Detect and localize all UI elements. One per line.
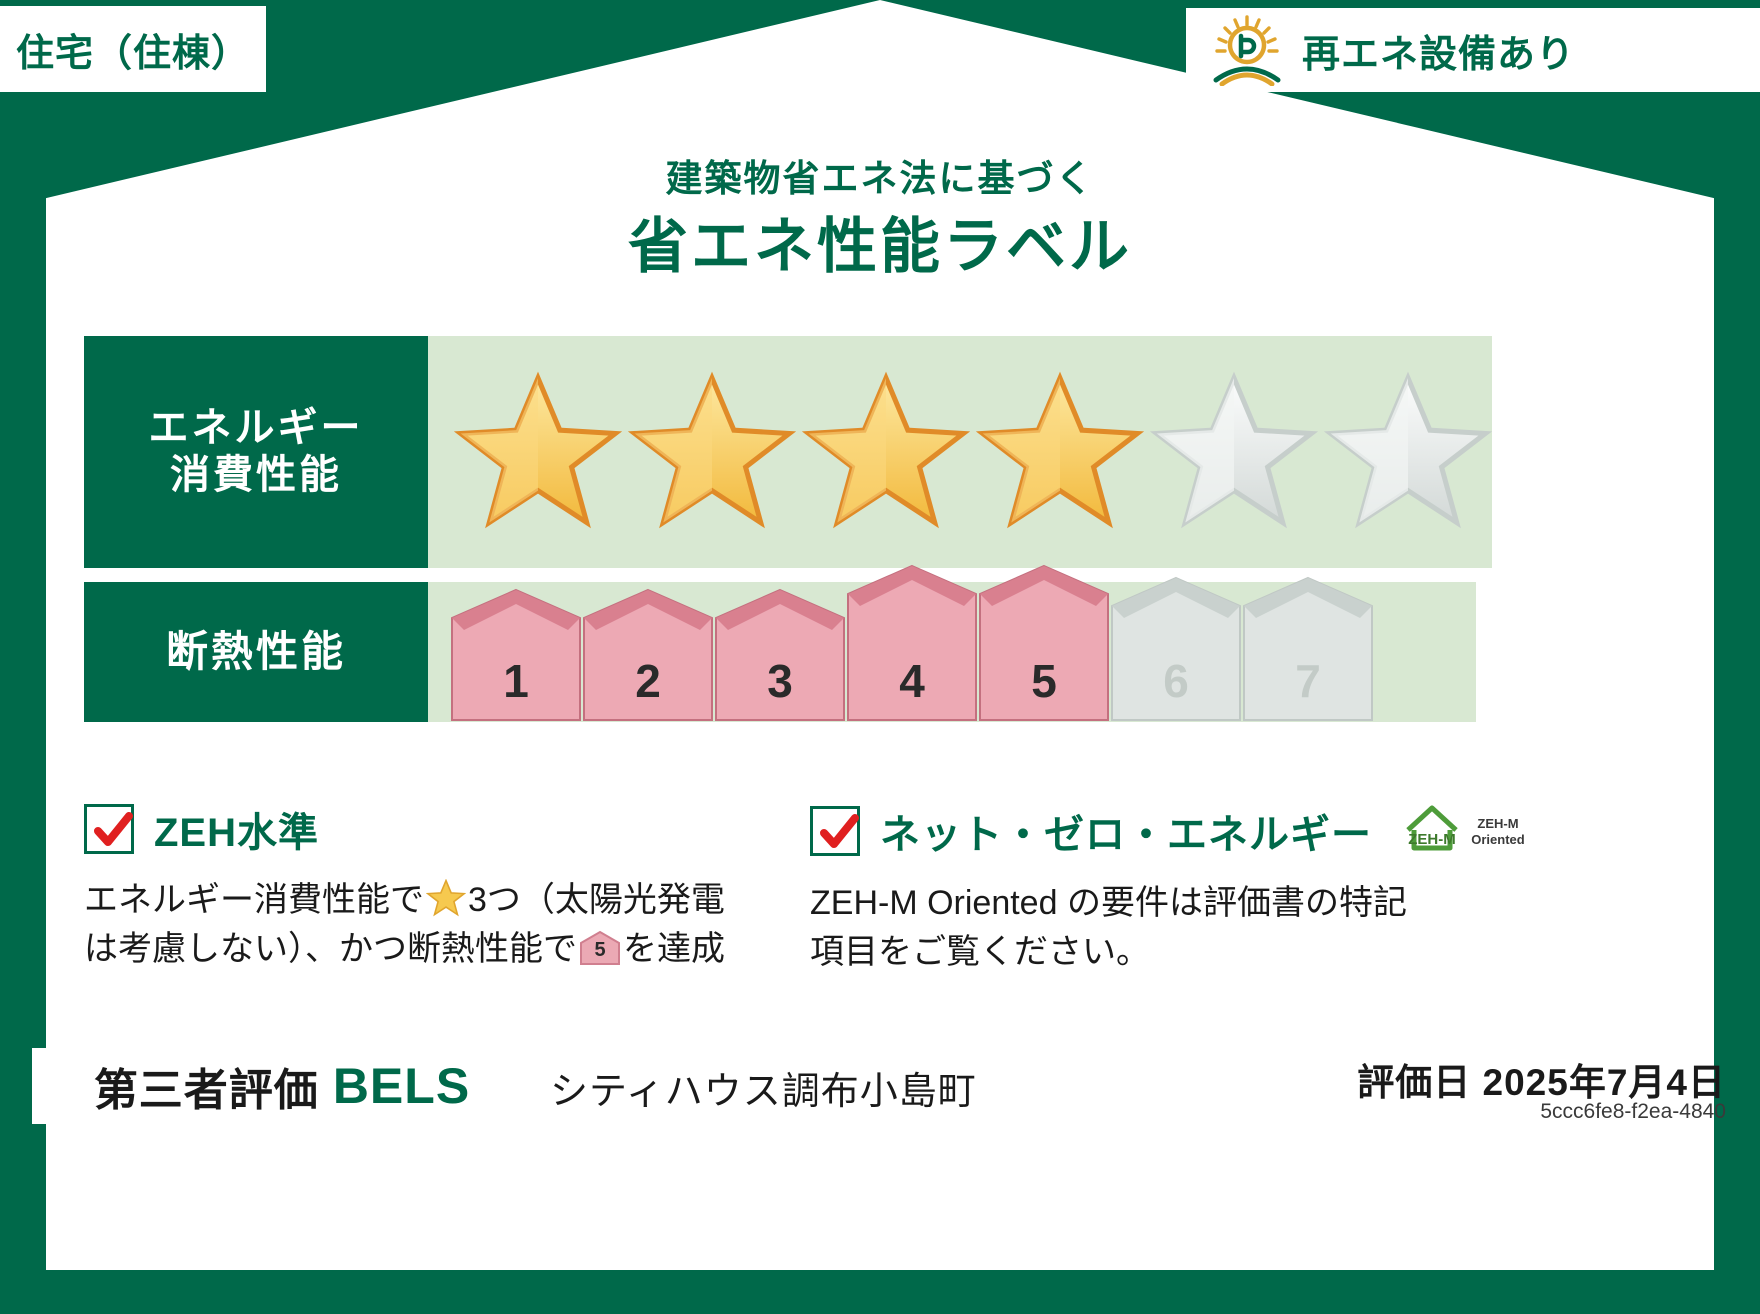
net-zero-energy-checkbox[interactable]	[810, 806, 860, 856]
energy-star-rating	[428, 336, 1492, 568]
zeh-standard-description: エネルギー消費性能で3つ（太陽光発電 は考慮しない）、かつ断熱性能で5を達成	[84, 876, 764, 975]
zeh-desc-part4: を達成	[623, 930, 725, 968]
insulation-grade-badge: 6	[1108, 576, 1244, 722]
insulation-performance-label: 断熱性能	[84, 582, 428, 722]
check-icon	[91, 809, 135, 853]
label-title: 省エネ性能ラベル	[0, 198, 1760, 285]
star-icon-empty	[1324, 369, 1492, 535]
check-icon	[817, 811, 861, 855]
insulation-grade-scale: 1234567	[428, 582, 1476, 722]
insulation-label-text: 断熱性能	[166, 627, 346, 677]
insulation-grade-number: 1	[448, 654, 584, 708]
insulation-grade-number: 2	[580, 654, 716, 708]
zehm-house-logo-icon: ZEH-M ZEH-M Oriented	[1402, 800, 1542, 861]
zeh-desc-part3: は考慮しない）、かつ断熱性能で	[84, 930, 577, 968]
insulation-grade-number: 5	[976, 654, 1112, 708]
solar-plug-icon	[1208, 14, 1286, 86]
insulation-grade-badge: 3	[712, 588, 848, 722]
star-icon	[802, 369, 970, 535]
zeh-standard-title: ZEH水準	[154, 800, 319, 858]
insulation-grade-number: 4	[844, 654, 980, 708]
dwelling-type-label: 住宅（住棟）	[16, 22, 250, 77]
evaluation-id: 5ccc6fe8-f2ea-4840	[1540, 1100, 1726, 1124]
svg-text:ZEH-M: ZEH-M	[1408, 831, 1456, 848]
energy-performance-label: エネルギー 消費性能	[84, 336, 428, 568]
net-zero-energy-description: ZEH-M Oriented の要件は評価書の特記 項目をご覧ください。	[810, 879, 1490, 978]
zeh-standard-block: ZEH水準 エネルギー消費性能で3つ（太陽光発電 は考慮しない）、かつ断熱性能で…	[84, 800, 764, 975]
dwelling-type-tag: 住宅（住棟）	[0, 6, 266, 92]
insulation-grade-number: 7	[1240, 654, 1376, 708]
bels-en-label: BELS	[333, 1057, 470, 1115]
insulation-grade-number: 6	[1108, 654, 1244, 708]
net-zero-energy-title: ネット・ゼロ・エネルギー	[880, 802, 1372, 860]
zeh-desc-part1: エネルギー消費性能で	[84, 881, 424, 919]
star-icon	[426, 879, 466, 917]
house-badge-icon: 5	[579, 930, 621, 966]
insulation-grade-badge: 1	[448, 588, 584, 722]
insulation-grade-badge: 7	[1240, 576, 1376, 722]
renewable-energy-tag: 再エネ設備あり	[1186, 8, 1760, 92]
renewable-energy-label: 再エネ設備あり	[1302, 23, 1575, 78]
insulation-performance-row: 断熱性能 1234567	[84, 582, 1476, 722]
net-zero-energy-block: ネット・ゼロ・エネルギー ZEH-M ZEH-M Oriented ZEH-M …	[810, 800, 1490, 978]
star-icon	[454, 369, 622, 535]
energy-performance-row: エネルギー 消費性能	[84, 336, 1476, 568]
zeh-desc-part2: 3つ（太陽光発電	[468, 881, 725, 919]
svg-text:ZEH-M: ZEH-M	[1477, 816, 1518, 831]
nze-desc-line2: 項目をご覧ください。	[810, 933, 1150, 971]
star-icon	[628, 369, 796, 535]
energy-label-line2: 消費性能	[170, 452, 342, 499]
label-subtitle: 建築物省エネ法に基づく	[0, 148, 1760, 202]
insulation-grade-badge: 5	[976, 564, 1112, 722]
star-icon-empty	[1150, 369, 1318, 535]
zeh-standard-checkbox[interactable]	[84, 804, 134, 854]
insulation-grade-number: 3	[712, 654, 848, 708]
bels-badge: 第三者評価 BELS	[32, 1048, 532, 1124]
evaluation-date: 評価日 2025年7月4日	[1357, 1052, 1726, 1106]
house-badge-number: 5	[579, 936, 621, 965]
net-zero-energy-header: ネット・ゼロ・エネルギー ZEH-M ZEH-M Oriented	[810, 800, 1490, 861]
svg-text:Oriented: Oriented	[1471, 832, 1525, 847]
insulation-grade-badge: 2	[580, 588, 716, 722]
building-name: シティハウス調布小島町	[550, 1060, 977, 1115]
zeh-standard-header: ZEH水準	[84, 800, 764, 858]
nze-desc-line1: ZEH-M Oriented の要件は評価書の特記	[810, 884, 1407, 922]
energy-label-line1: エネルギー	[149, 405, 364, 452]
insulation-grade-badge: 4	[844, 564, 980, 722]
star-icon	[976, 369, 1144, 535]
bels-jp-label: 第三者評価	[94, 1054, 319, 1118]
